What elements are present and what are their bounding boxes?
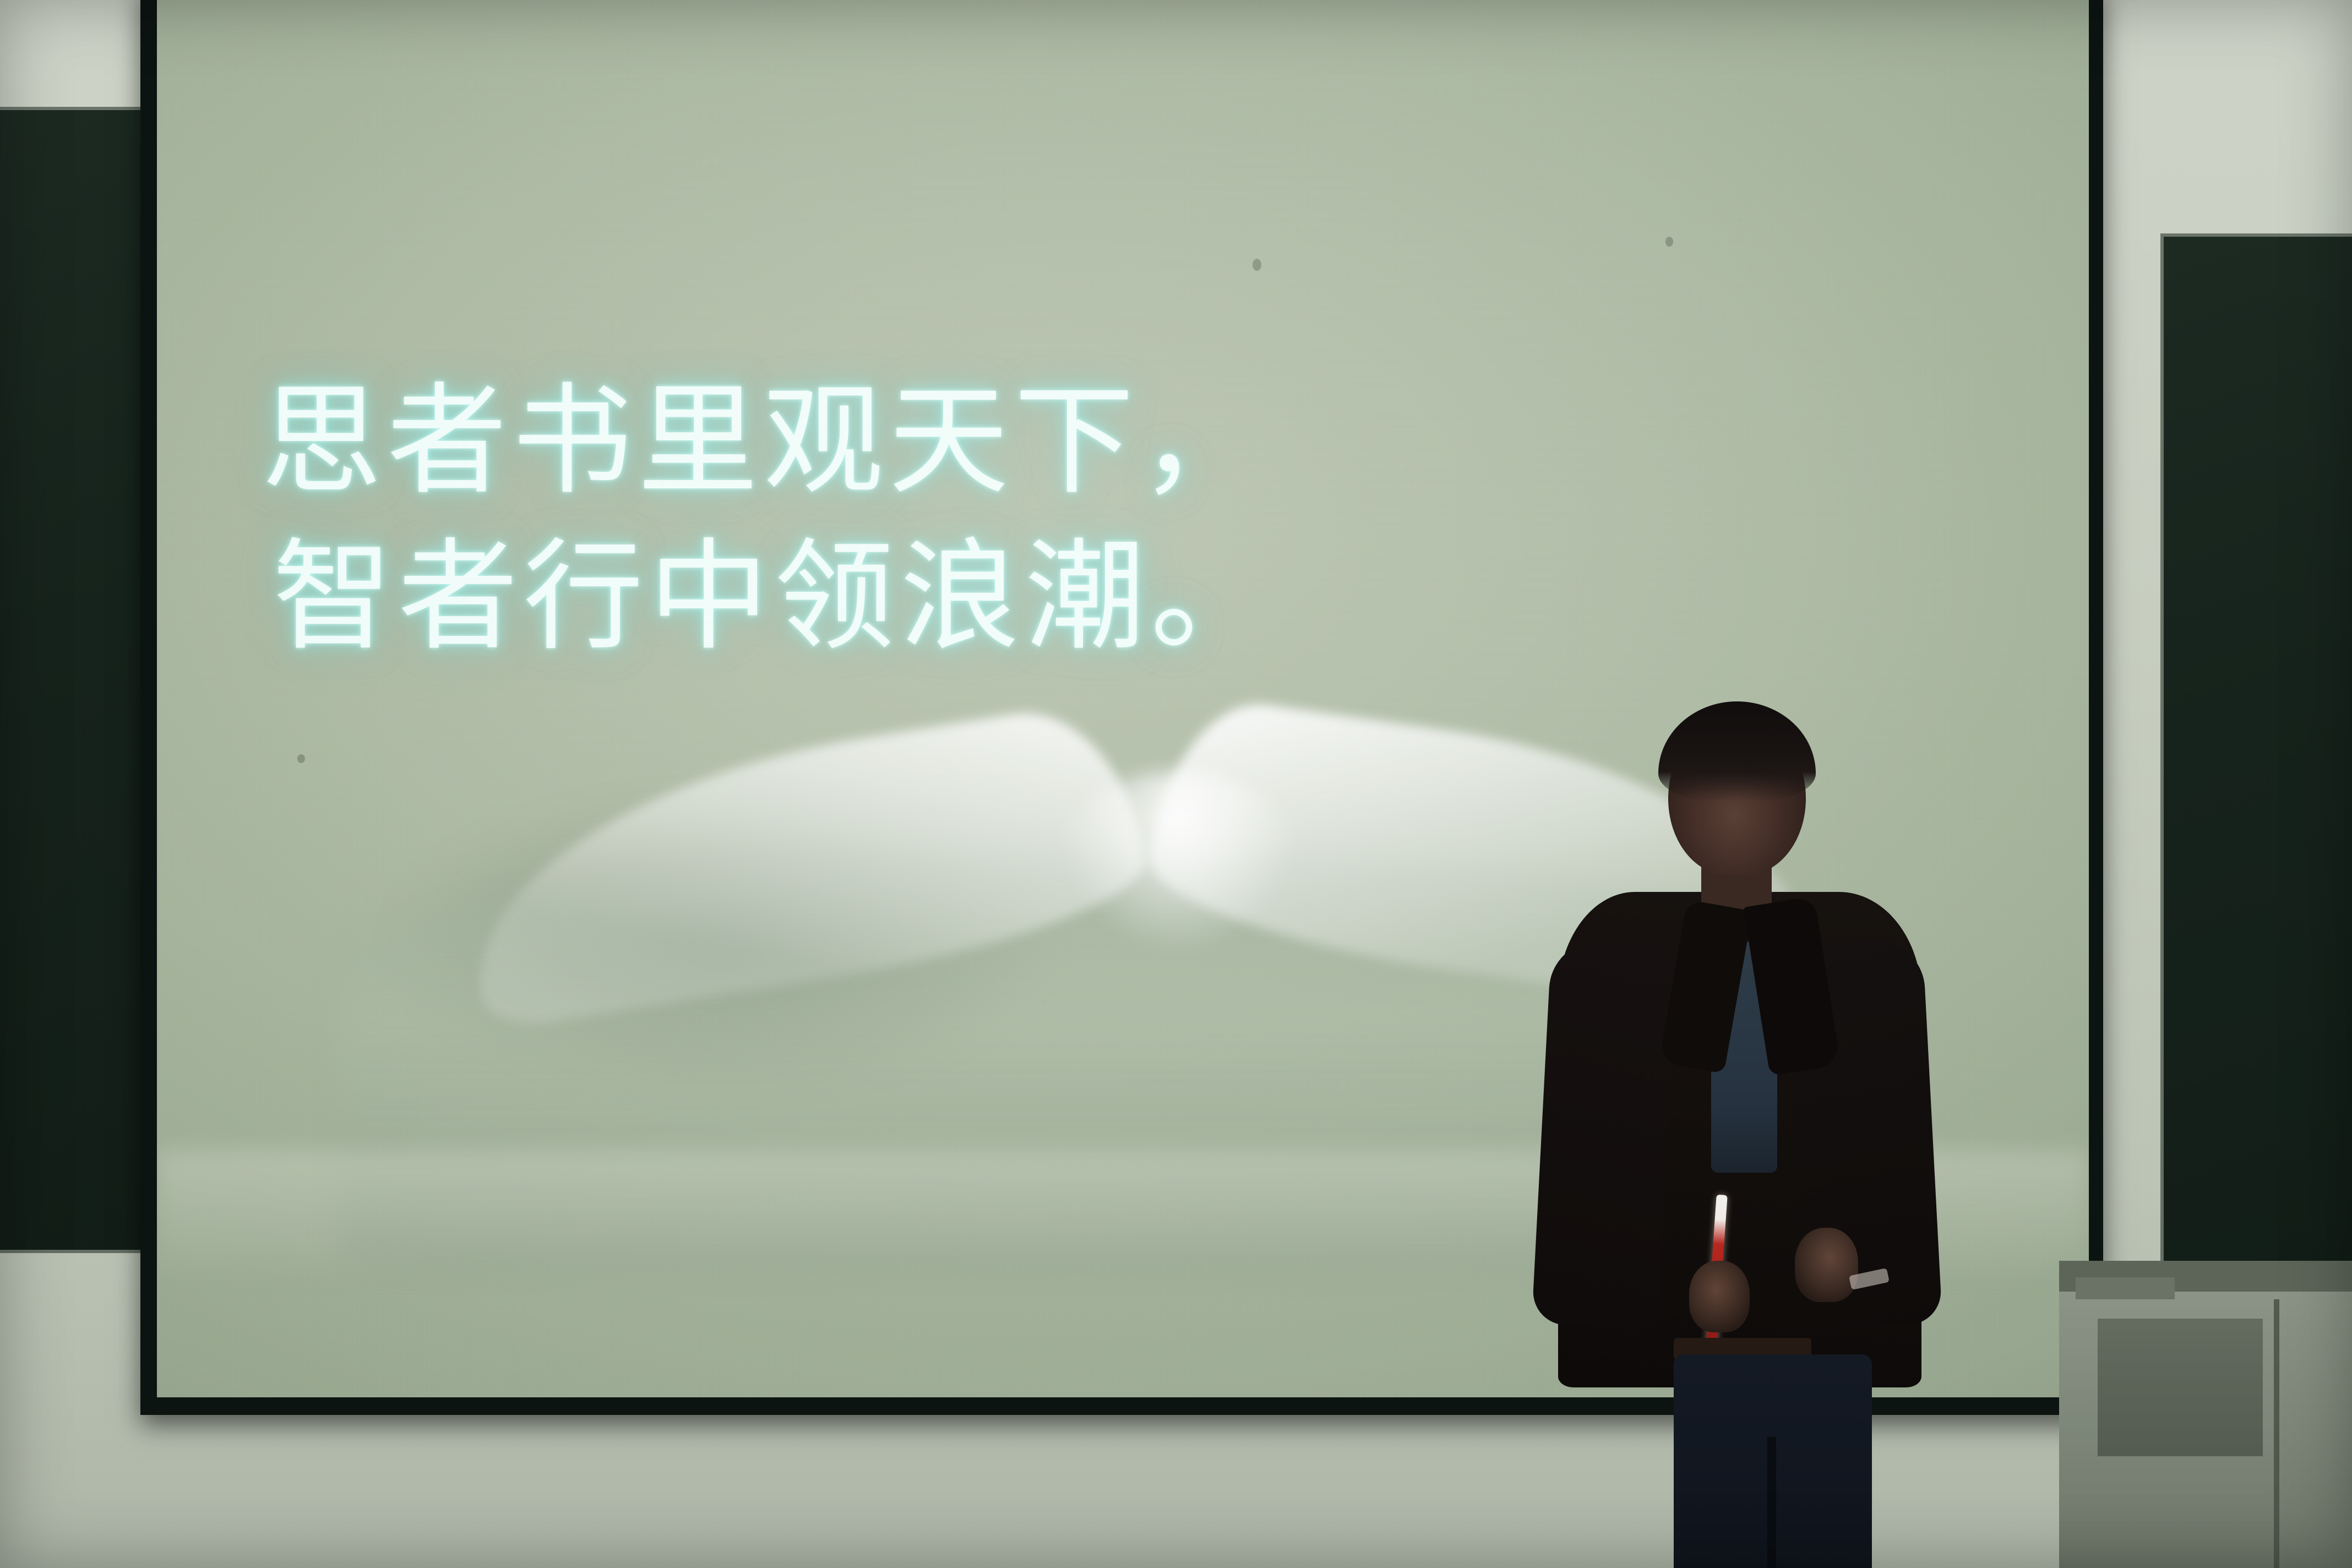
book-spine-highlight [1049, 771, 1308, 986]
slide-text-block: 思者书里观天下， 智者行中领浪潮。 [262, 363, 2089, 676]
slide-text-line-2: 智者行中领浪潮。 [262, 519, 2089, 675]
podium-panel [2098, 1319, 2263, 1456]
dust-speck [297, 754, 305, 763]
presenter-hand-left [1689, 1261, 1750, 1332]
photo-canvas: 思者书里观天下， 智者行中领浪潮。 [0, 0, 2352, 1568]
dust-speck [1665, 237, 1673, 247]
presenter [1536, 710, 2032, 1568]
presenter-leg-gap [1767, 1437, 1776, 1568]
presenter-hair [1658, 701, 1816, 802]
presenter-arm-left [1532, 938, 1678, 1330]
slide-text-line-1: 思者书里观天下， [262, 363, 2089, 519]
podium-arm [2076, 1277, 2175, 1299]
blackboard-right [2164, 237, 2352, 1266]
dust-speck [1253, 259, 1261, 271]
presenter-hand-right [1795, 1228, 1858, 1302]
podium-edge [2274, 1299, 2279, 1568]
